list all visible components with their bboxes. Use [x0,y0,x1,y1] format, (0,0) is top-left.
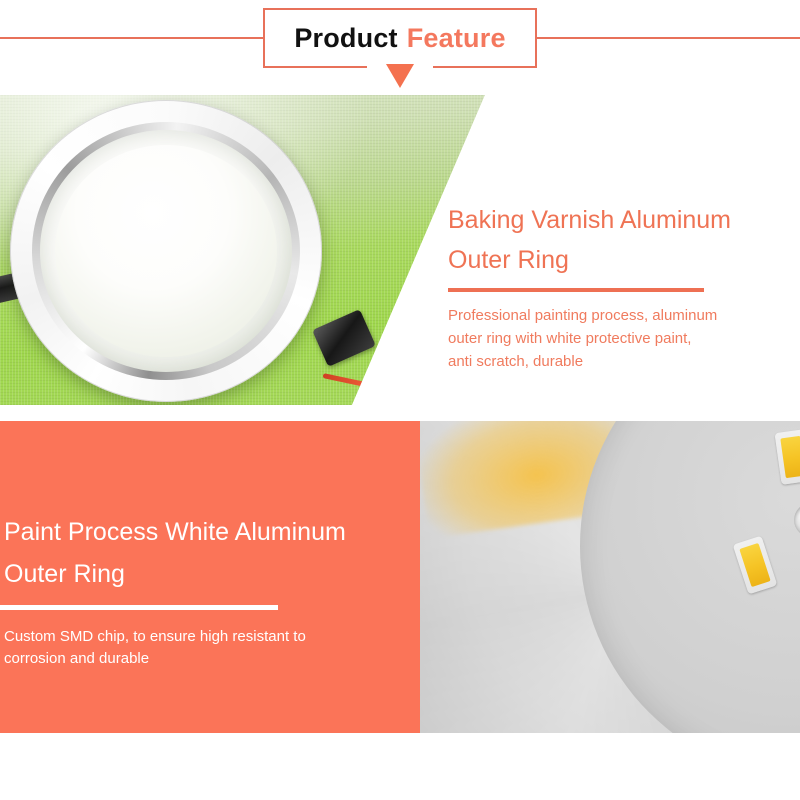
page-title: Product Feature [263,8,537,68]
page-title-word-product: Product [294,23,397,54]
feature2-heading-line2: Outer Ring [0,553,420,595]
smd-led-chip [775,429,800,485]
screw-hole [794,503,800,537]
feature2-body-line1: Custom SMD chip, to ensure high resistan… [4,626,420,648]
feature2-body-line2: corrosion and durable [4,648,420,670]
product-feature-infographic: Product Feature Baking Varnish Aluminum … [0,0,800,800]
product-photo-led-pcb [420,421,800,733]
smd-led-chip [733,536,778,595]
led-downlight-fixture [10,100,322,402]
page-header: Product Feature [0,0,800,95]
product-photo-downlight-green [0,95,500,405]
feature-panel-baking-varnish: Baking Varnish Aluminum Outer Ring Profe… [0,95,800,405]
feature-text-block-2: Paint Process White Aluminum Outer Ring … [0,511,420,670]
header-rule-left [0,37,263,39]
feature-text-block-1: Baking Varnish Aluminum Outer Ring Profe… [448,200,784,373]
feature-body-line2: outer ring with white protective paint, [448,327,784,350]
feature-body-line1: Professional painting process, aluminum [448,304,784,327]
feature2-heading-line1: Paint Process White Aluminum [0,511,420,553]
feature-panel-paint-process: Paint Process White Aluminum Outer Ring … [0,421,800,733]
feature-body-line3: anti scratch, durable [448,350,784,373]
page-title-word-feature: Feature [407,23,506,54]
feature2-underline-bar [0,605,278,610]
down-triangle-icon [386,64,414,88]
feature-heading-line2: Outer Ring [448,240,784,280]
header-rule-right [537,37,800,39]
diffuser-lens [55,145,277,357]
feature-heading-line1: Baking Varnish Aluminum [448,200,784,240]
feature-underline-bar [448,288,704,292]
